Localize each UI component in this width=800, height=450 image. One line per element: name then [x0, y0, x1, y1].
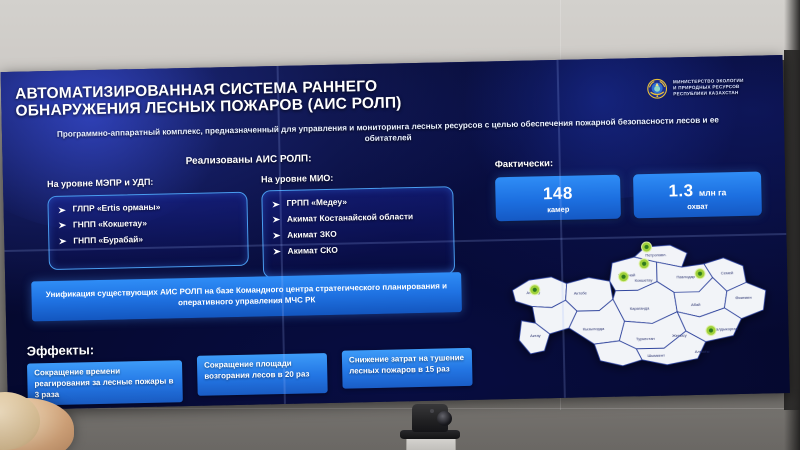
camera-indicator-icon — [430, 409, 434, 413]
svg-text:Павлодар: Павлодар — [676, 274, 695, 279]
stat-value: 148 — [495, 175, 621, 204]
stat-caption: камер — [496, 204, 621, 216]
presentation-slide: АВТОМАТИЗИРОВАННАЯ СИСТЕМА РАННЕГО ОБНАР… — [1, 55, 790, 410]
camera-stand — [406, 438, 456, 450]
svg-text:Абай: Абай — [691, 302, 700, 307]
ptz-conference-camera — [398, 404, 462, 450]
video-wall-screen: АВТОМАТИЗИРОВАННАЯ СИСТЕМА РАННЕГО ОБНАР… — [1, 55, 790, 410]
svg-text:Туркестан: Туркестан — [636, 336, 655, 341]
page-title: АВТОМАТИЗИРОВАННАЯ СИСТЕМА РАННЕГО ОБНАР… — [15, 76, 486, 121]
svg-text:Жетысу: Жетысу — [672, 333, 687, 338]
facts-heading: Фактически: — [495, 158, 554, 170]
list-item-label: ГНПП «Кокшетау» — [73, 219, 147, 231]
chevron-right-icon — [58, 221, 67, 230]
stat-unit: млн га — [699, 187, 727, 198]
effect-card-response-time: Сокращение времени реагирования за лесны… — [27, 360, 183, 405]
realized-heading: Реализованы АИС РОЛП: — [39, 150, 459, 170]
list-item: ГЛПР «Ertis орманы» — [58, 201, 239, 215]
list-box-mepr: ГЛПР «Ertis орманы» ГНПП «Кокшетау» ГНПП… — [47, 192, 249, 270]
column-heading-mio: На уровне МИО: — [261, 173, 334, 185]
stat-card-coverage: 1.3 млн га охват — [633, 172, 762, 219]
svg-text:Кызылорда: Кызылорда — [583, 326, 605, 331]
svg-text:Петропавл.: Петропавл. — [645, 252, 666, 257]
svg-text:Караганда: Караганда — [630, 306, 650, 311]
screenshot-root: АВТОМАТИЗИРОВАННАЯ СИСТЕМА РАННЕГО ОБНАР… — [0, 0, 800, 450]
stat-value: 1.3 — [668, 181, 694, 201]
stat-caption: охват — [634, 201, 762, 213]
stat-card-cameras: 148 камер — [495, 175, 621, 222]
list-item-label: ГЛПР «Ertis орманы» — [73, 203, 161, 215]
svg-text:Кокшетау: Кокшетау — [635, 278, 653, 283]
svg-text:Талдыкорган: Талдыкорган — [714, 326, 738, 332]
list-box-mio: ГРПП «Медеу» Акимат Костанайской области… — [261, 186, 455, 278]
camera-body — [412, 404, 448, 432]
svg-text:Семей: Семей — [721, 270, 733, 275]
list-item-label: ГНПП «Бурабай» — [73, 235, 143, 246]
list-item: Акимат ЗКО — [272, 227, 445, 241]
map-svg: Атырау Актобе Актау Костанай Петропавл. … — [499, 237, 782, 371]
ministry-line-3: РЕСПУБЛИКИ КАЗАХСТАН — [673, 90, 744, 98]
svg-text:Актобе: Актобе — [574, 290, 588, 295]
svg-text:Алматы: Алматы — [695, 349, 710, 354]
stat-value-row: 1.3 млн га — [633, 172, 762, 201]
unification-banner: Унификация существующих АИС РОЛП на базе… — [31, 272, 462, 321]
list-item: Акимат Костанайской области — [272, 211, 445, 225]
chevron-right-icon — [58, 237, 67, 246]
list-item: ГРПП «Медеу» — [271, 195, 444, 209]
ministry-name: МИНИСТЕРСТВО ЭКОЛОГИИ И ПРИРОДНЫХ РЕСУРС… — [673, 78, 744, 98]
slide-subtitle: Программно-аппаратный комплекс, предназн… — [38, 114, 738, 151]
chevron-right-icon — [58, 205, 67, 214]
list-item: ГНПП «Кокшетау» — [58, 217, 239, 231]
list-item-label: Акимат ЗКО — [287, 230, 337, 241]
coat-of-arms-icon — [646, 78, 668, 100]
svg-text:Шымкент: Шымкент — [647, 353, 665, 358]
effect-card-cost: Снижение затрат на тушение лесных пожаро… — [342, 348, 473, 389]
effects-heading: Эффекты: — [27, 342, 95, 358]
svg-text:Актау: Актау — [530, 333, 541, 338]
video-wall: АВТОМАТИЗИРОВАННАЯ СИСТЕМА РАННЕГО ОБНАР… — [1, 55, 790, 410]
list-item-label: ГРПП «Медеу» — [286, 198, 347, 209]
column-heading-mepr: На уровне МЭПР и УДП: — [47, 177, 153, 189]
kazakhstan-map: Атырау Актобе Актау Костанай Петропавл. … — [499, 237, 782, 371]
list-item-label: Акимат СКО — [288, 245, 338, 256]
svg-text:Өскемен: Өскемен — [735, 295, 751, 300]
list-item-label: Акимат Костанайской области — [287, 212, 413, 225]
effect-card-burn-area: Сокращение площади возгорания лесов в 20… — [197, 353, 328, 396]
ministry-logo: МИНИСТЕРСТВО ЭКОЛОГИИ И ПРИРОДНЫХ РЕСУРС… — [646, 76, 744, 100]
camera-lens-icon — [437, 411, 452, 426]
